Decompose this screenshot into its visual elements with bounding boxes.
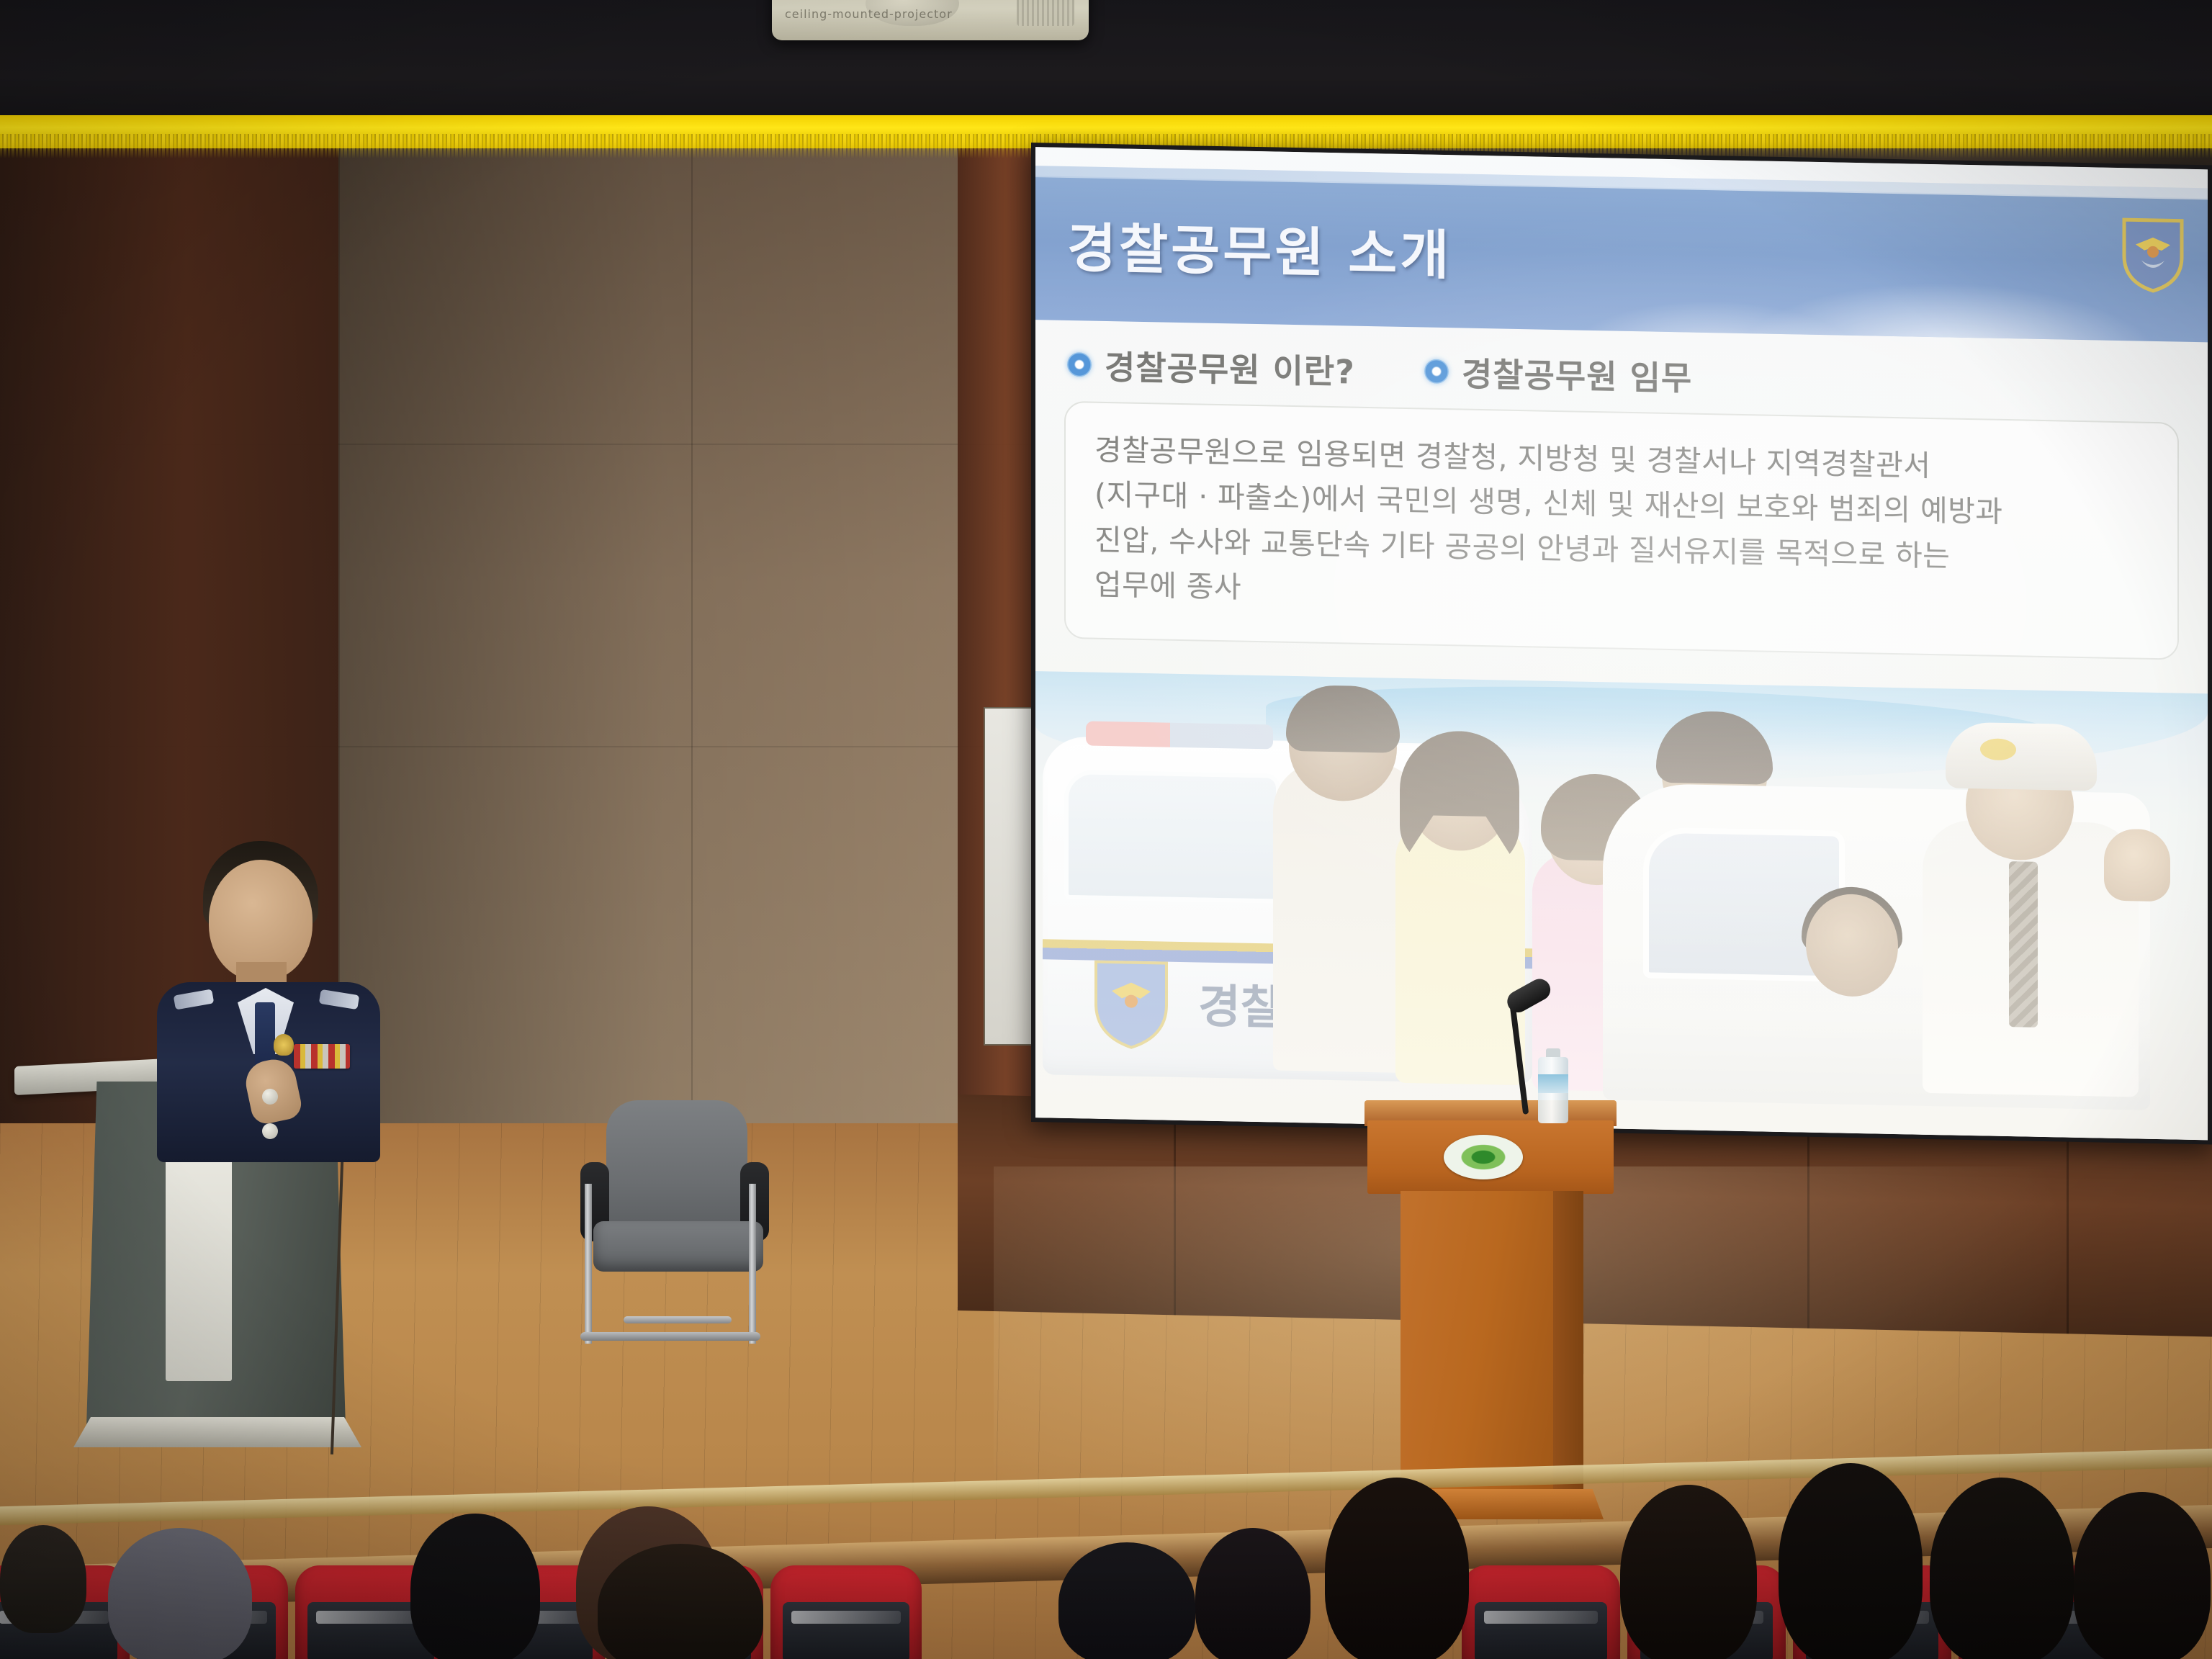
police-shield-emblem-icon xyxy=(1092,958,1171,1051)
water-bottle[interactable] xyxy=(1538,1044,1568,1123)
seat[interactable] xyxy=(1462,1565,1620,1659)
slide-photo: 경찰 xyxy=(1035,671,2208,1140)
uniform-badge-icon xyxy=(274,1034,294,1056)
bullet-dot-icon xyxy=(1424,359,1449,384)
speaker-police-officer xyxy=(153,841,383,1158)
audience-head xyxy=(598,1544,763,1659)
slide-bullet-1-label: 경찰공무원 이란? xyxy=(1105,341,1355,394)
audience-head xyxy=(1325,1478,1469,1659)
ceiling xyxy=(0,0,2212,128)
slide-bullet-2: 경찰공무원 임무 xyxy=(1424,347,1692,400)
photo-driver xyxy=(1806,894,1898,997)
projector-label: ceiling-mounted-projector xyxy=(785,7,953,21)
auditorium-photo: ceiling-mounted-projector 경찰공무원 소개 xyxy=(0,0,2212,1659)
audience-head xyxy=(1779,1463,1923,1659)
slide-title: 경찰공무원 소개 xyxy=(1067,205,1452,289)
slide-body-textbox: 경찰공무원으로 임용되면 경찰청, 지방청 및 경찰서나 지역경찰관서 (지구대… xyxy=(1064,401,2179,660)
lectern-front-panel xyxy=(166,1143,232,1381)
grey-stage-chair[interactable] xyxy=(569,1100,785,1388)
audience-head xyxy=(1195,1528,1310,1659)
audience-head xyxy=(0,1525,86,1633)
slide-bullets: 경찰공무원 이란? 경찰공무원 임무 xyxy=(1067,341,2146,409)
police-lightbar-icon xyxy=(1086,721,1273,749)
audience-head xyxy=(1930,1478,2074,1659)
slide-bullet-2-label: 경찰공무원 임무 xyxy=(1462,348,1692,400)
bullet-dot-icon xyxy=(1067,352,1092,377)
audience-head xyxy=(410,1514,540,1659)
slide-bullet-1: 경찰공무원 이란? xyxy=(1067,341,1355,394)
projection-screen: 경찰공무원 소개 경찰공무원 이란? xyxy=(1031,143,2212,1144)
presentation-slide: 경찰공무원 소개 경찰공무원 이란? xyxy=(1035,147,2208,1140)
slide-header: 경찰공무원 소개 xyxy=(1035,176,2208,342)
audience-seating xyxy=(0,1496,2212,1659)
audience-head xyxy=(1620,1485,1757,1659)
projector-vent xyxy=(1017,0,1074,26)
korean-national-police-emblem-icon xyxy=(2120,215,2186,295)
audience-head xyxy=(1058,1542,1195,1659)
audience-head xyxy=(2074,1492,2211,1659)
service-ribbons xyxy=(294,1044,350,1069)
ceiling-projector: ceiling-mounted-projector xyxy=(772,0,1089,40)
podium-crest-icon xyxy=(1444,1135,1523,1179)
photo-child-yellow xyxy=(1395,817,1525,1085)
audience-head xyxy=(108,1528,252,1659)
patrol-car-text: 경찰 xyxy=(1198,969,1283,1037)
photo-waving-hand xyxy=(2104,829,2170,902)
seat[interactable] xyxy=(770,1565,922,1659)
